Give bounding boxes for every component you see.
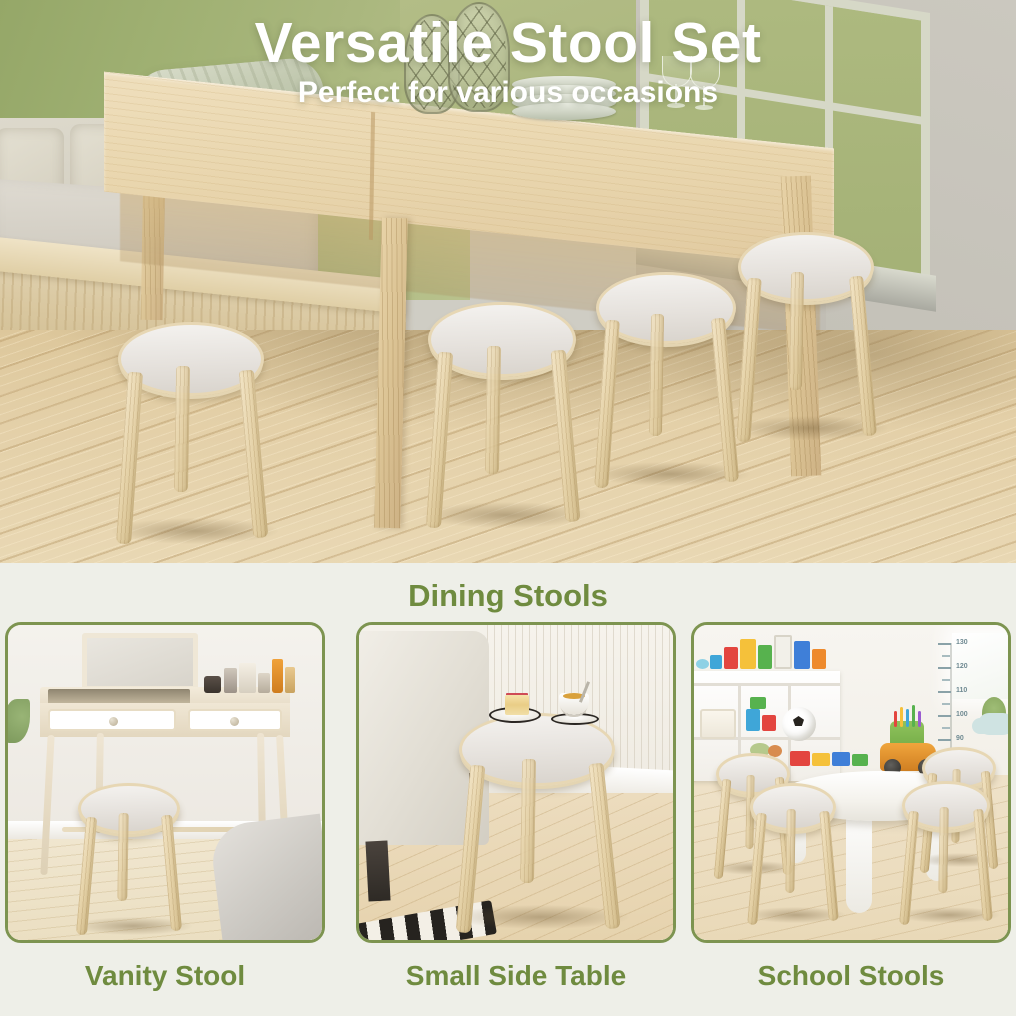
vanity-stool bbox=[78, 783, 180, 933]
cake-slice bbox=[505, 695, 529, 715]
soccer-ball bbox=[782, 707, 816, 741]
feature-card-vanity[interactable] bbox=[5, 622, 325, 943]
vanity-mirror bbox=[82, 633, 198, 691]
bed-foot-left bbox=[365, 840, 390, 901]
page-title: Versatile Stool Set bbox=[0, 10, 1016, 76]
side-table-scene bbox=[359, 625, 673, 940]
toy-train bbox=[790, 751, 870, 767]
side-table-stool bbox=[459, 713, 615, 929]
hero-stool-3 bbox=[596, 272, 736, 484]
drawer-knob-right bbox=[230, 717, 239, 726]
playroom-scene: 130 120 110 100 90 bbox=[694, 625, 1008, 940]
caption-small-side-table: Small Side Table bbox=[356, 960, 676, 992]
height-chart-line bbox=[950, 643, 952, 763]
hero-stool-1 bbox=[118, 322, 264, 540]
product-infographic: Versatile Stool Set Perfect for various … bbox=[0, 0, 1016, 1016]
playroom-stool-front-left bbox=[750, 783, 836, 925]
height-label-120: 120 bbox=[956, 663, 968, 670]
cosmetics-group bbox=[204, 651, 296, 693]
caption-school-stools: School Stools bbox=[691, 960, 1011, 992]
height-label-100: 100 bbox=[956, 711, 968, 718]
playroom-stool-front-right bbox=[902, 781, 990, 925]
cloud-decal bbox=[978, 713, 1011, 735]
hero-image: Versatile Stool Set Perfect for various … bbox=[0, 0, 1016, 563]
feature-card-school-stools[interactable]: 130 120 110 100 90 bbox=[691, 622, 1011, 943]
height-label-90: 90 bbox=[956, 735, 964, 742]
bed-corner bbox=[209, 814, 325, 943]
hero-stool-4 bbox=[738, 232, 874, 438]
feature-card-side-table[interactable] bbox=[356, 622, 676, 943]
section-label-dining-stools: Dining Stools bbox=[0, 578, 1016, 614]
caption-vanity-stool: Vanity Stool bbox=[5, 960, 325, 992]
page-subtitle: Perfect for various occasions bbox=[0, 76, 1016, 110]
hero-stool-2 bbox=[428, 302, 576, 524]
drawer-knob-left bbox=[109, 717, 118, 726]
height-label-130: 130 bbox=[956, 639, 968, 646]
storage-basket bbox=[700, 709, 736, 739]
height-label-110: 110 bbox=[956, 687, 967, 694]
vanity-scene bbox=[8, 625, 322, 940]
